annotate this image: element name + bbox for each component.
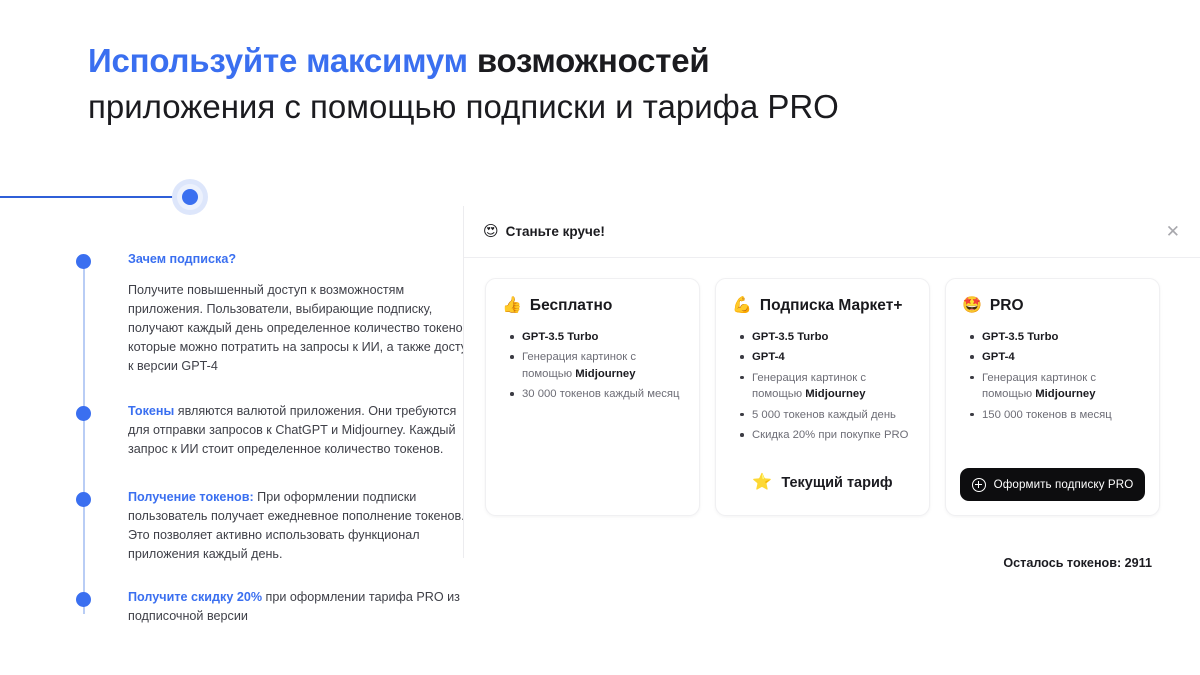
smiling-face-with-hearts-emoji: 😍 xyxy=(483,224,499,239)
pricing-card-pro[interactable]: 🤩 PRO GPT-3.5 Turbo GPT-4 Генерация карт… xyxy=(945,278,1160,516)
page-title: Используйте максимум возможностей прилож… xyxy=(88,38,1148,129)
modal-title: 😍 Станьте круче! xyxy=(483,224,605,239)
card-title: 🤩 PRO xyxy=(960,297,1145,315)
list-item: Генерация картинок с помощью Midjourney xyxy=(982,370,1145,403)
current-plan-badge: ⭐ Текущий тариф xyxy=(730,475,915,501)
feature-list: GPT-3.5 Turbo Генерация картинок с помощ… xyxy=(500,329,685,407)
subscribe-pro-button[interactable]: Оформить подписку PRO xyxy=(960,468,1145,501)
timeline-text: являются валютой приложения. Они требуют… xyxy=(128,404,456,456)
timeline-lead: Получение токенов: xyxy=(128,490,254,504)
pricing-card-market-plus[interactable]: 💪 Подписка Маркет+ GPT-3.5 Turbo GPT-4 Г… xyxy=(715,278,930,516)
timeline-dot-icon xyxy=(76,592,91,607)
timeline-dot-icon xyxy=(76,406,91,421)
close-icon[interactable]: ✕ xyxy=(1166,223,1180,240)
list-item: 150 000 токенов в месяц xyxy=(982,407,1145,423)
page-title-accent: Используйте максимум xyxy=(88,42,468,79)
plus-circle-icon xyxy=(972,478,986,492)
feature-list: GPT-3.5 Turbo GPT-4 Генерация картинок с… xyxy=(730,329,915,448)
list-item: Получите скидку 20% при оформлении тариф… xyxy=(76,588,476,626)
timeline-lead: Токены xyxy=(128,404,174,418)
star-struck-emoji: 🤩 xyxy=(962,298,982,314)
page-title-rest: возможностей xyxy=(468,42,710,79)
connector-dot-icon xyxy=(182,189,198,205)
card-title: 👍 Бесплатно xyxy=(500,297,685,315)
page-title-line2: приложения с помощью подписки и тарифа P… xyxy=(88,84,1148,130)
list-item: Генерация картинок с помощью Midjourney xyxy=(752,370,915,403)
subscribe-pro-label: Оформить подписку PRO xyxy=(994,478,1134,491)
current-plan-label: Текущий тариф xyxy=(781,475,892,491)
list-item: 30 000 токенов каждый месяц xyxy=(522,386,685,402)
card-footer: Оформить подписку PRO xyxy=(960,468,1145,501)
card-title-text: PRO xyxy=(990,297,1024,315)
feature-list: GPT-3.5 Turbo GPT-4 Генерация картинок с… xyxy=(960,329,1145,427)
list-item: GPT-4 xyxy=(752,349,915,365)
card-title-text: Бесплатно xyxy=(530,297,612,315)
connector-line xyxy=(0,196,182,198)
card-footer: ⭐ Текущий тариф xyxy=(730,475,915,501)
timeline-text: Получите повышенный доступ к возможностя… xyxy=(128,281,476,377)
list-item: Токены являются валютой приложения. Они … xyxy=(76,402,476,459)
card-title: 💪 Подписка Маркет+ xyxy=(730,297,915,315)
pricing-cards: 👍 Бесплатно GPT-3.5 Turbo Генерация карт… xyxy=(464,258,1200,516)
timeline: Зачем подписка? Получите повышенный дост… xyxy=(76,250,476,640)
list-item: GPT-4 xyxy=(982,349,1145,365)
timeline-dot-icon xyxy=(76,254,91,269)
list-item: GPT-3.5 Turbo xyxy=(982,329,1145,345)
timeline-heading: Зачем подписка? xyxy=(128,250,476,269)
timeline-dot-icon xyxy=(76,492,91,507)
flexed-biceps-emoji: 💪 xyxy=(732,298,752,314)
list-item: GPT-3.5 Turbo xyxy=(752,329,915,345)
tokens-remaining: Осталось токенов: 2911 xyxy=(1003,556,1152,570)
list-item: Получение токенов: При оформлении подпис… xyxy=(76,488,476,565)
list-item: Зачем подписка? Получите повышенный дост… xyxy=(76,250,476,377)
star-emoji: ⭐ xyxy=(752,475,772,491)
modal-title-text: Станьте круче! xyxy=(506,224,605,239)
subscription-modal: 😍 Станьте круче! ✕ 👍 Бесплатно GPT-3.5 T… xyxy=(463,206,1200,558)
card-title-text: Подписка Маркет+ xyxy=(760,297,902,315)
list-item: Скидка 20% при покупке PRO xyxy=(752,427,915,443)
modal-header: 😍 Станьте круче! ✕ xyxy=(464,206,1200,258)
list-item: Генерация картинок с помощью Midjourney xyxy=(522,349,685,382)
pricing-card-free[interactable]: 👍 Бесплатно GPT-3.5 Turbo Генерация карт… xyxy=(485,278,700,516)
list-item: 5 000 токенов каждый день xyxy=(752,407,915,423)
list-item: GPT-3.5 Turbo xyxy=(522,329,685,345)
timeline-lead: Получите скидку 20% xyxy=(128,590,262,604)
thumbs-up-emoji: 👍 xyxy=(502,298,522,314)
